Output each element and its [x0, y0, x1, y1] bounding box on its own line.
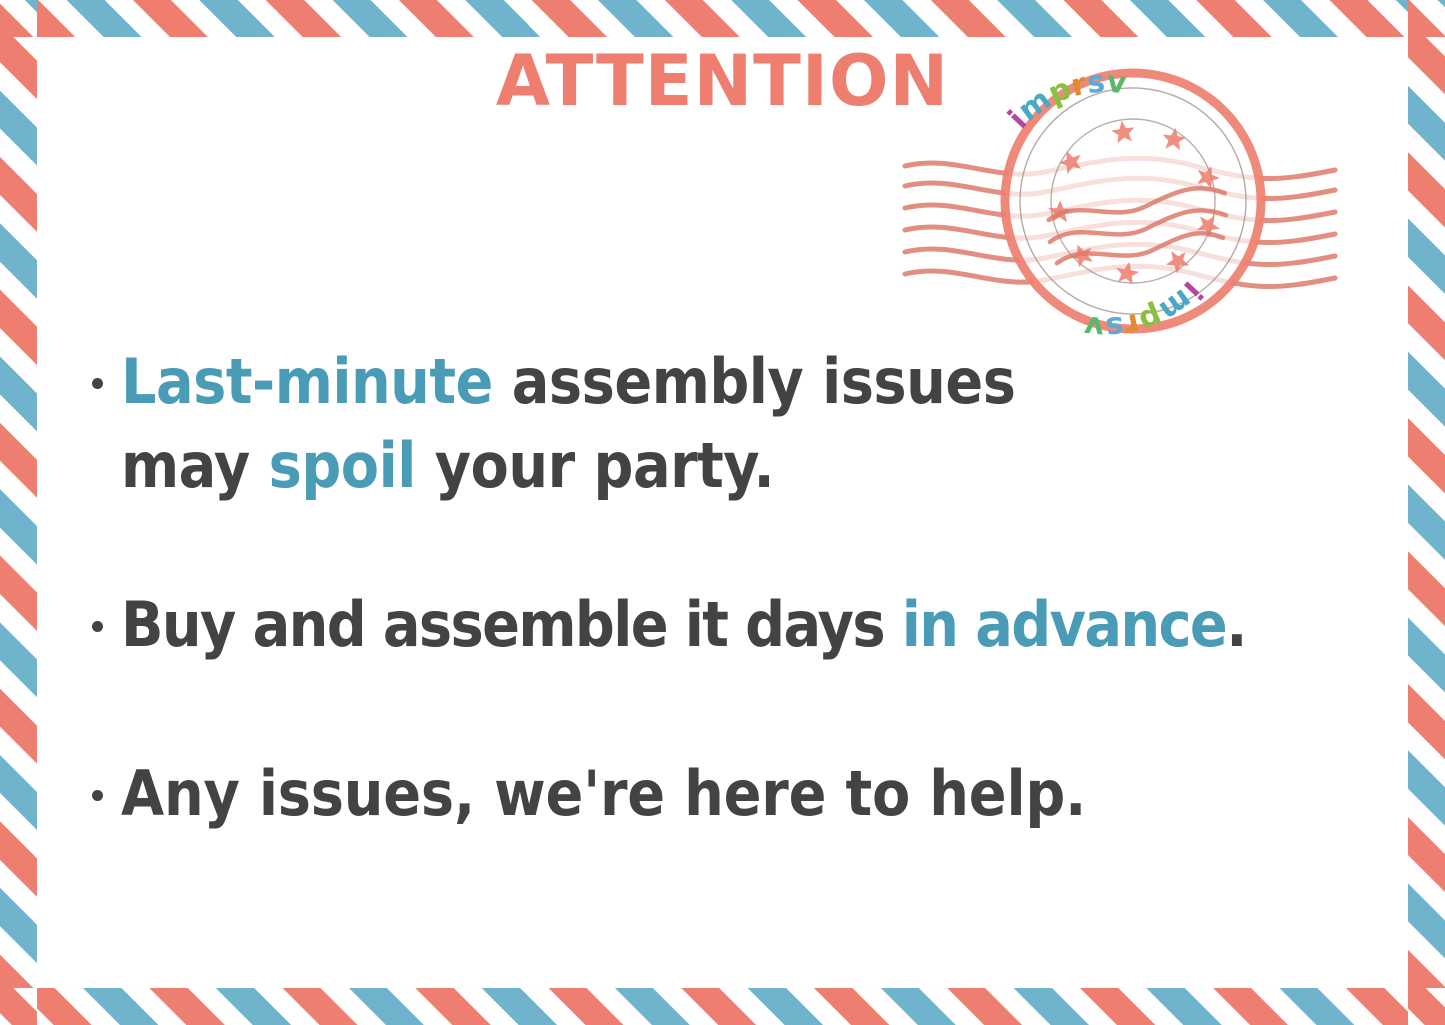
bullet-1-text: Last-minute assembly issues may spoil yo… [121, 340, 1405, 507]
bullet-2-text: Buy and assemble it days in advance. [121, 583, 1405, 667]
list-item: Buy and assemble it days in advance. [92, 583, 1405, 667]
poster-page: ATTENTION [0, 0, 1445, 1025]
bullet-1-part-3: may [121, 429, 269, 502]
bullet-dot-icon [92, 621, 103, 632]
bullet-1-part-2: assembly issues [493, 345, 1016, 418]
bullet-1-highlight-2: spoil [269, 429, 416, 502]
bullet-dot-icon [92, 790, 103, 801]
bullet-2-period: . [1226, 588, 1246, 661]
poster-content: ATTENTION [0, 0, 1445, 1025]
bullet-dot-icon [92, 378, 103, 389]
list-item: Any issues, we're here to help. [92, 752, 1405, 836]
stamp-rings: imprsv imprsv [987, 58, 1280, 343]
bullet-1-part-4: your party. [416, 429, 774, 502]
bullet-1-highlight-1: Last-minute [121, 345, 493, 418]
bullet-list: Last-minute assembly issues may spoil yo… [92, 340, 1405, 836]
list-item: Last-minute assembly issues may spoil yo… [92, 340, 1405, 507]
postage-stamp: imprsv imprsv [895, 58, 1375, 343]
bullet-3-text: Any issues, we're here to help. [121, 752, 1405, 836]
bullet-2-part-1: Buy and assemble it days [121, 588, 902, 661]
bullet-2-highlight: in advance [902, 588, 1226, 661]
